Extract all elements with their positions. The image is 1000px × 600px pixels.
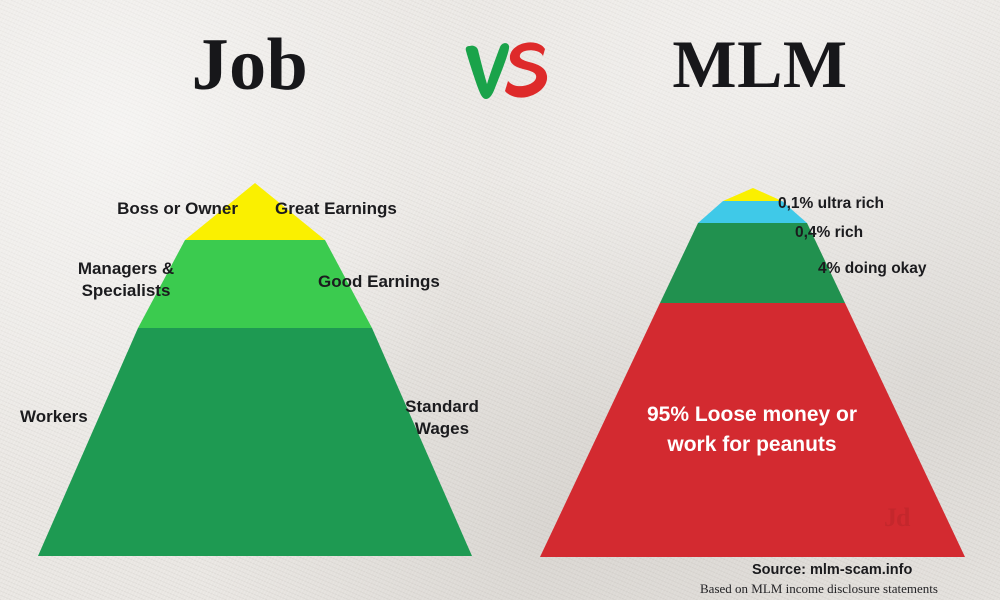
mlm-label-rich: 0,4% rich: [795, 223, 965, 243]
mlm-label-loose-money: 95% Loose money or work for peanuts: [602, 400, 902, 460]
source-block: Source: mlm-scam.info Based on MLM incom…: [700, 562, 990, 598]
source-primary-text: Source: mlm-scam.info: [752, 562, 990, 579]
job-label-managers-specialists: Managers & Specialists: [58, 258, 194, 303]
page-title-mlm: MLM: [520, 30, 1000, 98]
source-secondary-text: Based on MLM income disclosure statement…: [700, 581, 990, 597]
job-tier-workers: [38, 328, 472, 556]
job-label-workers: Workers: [20, 406, 132, 428]
mlm-tier-ultra-rich: [723, 188, 782, 201]
mlm-label-ultra-rich: 0,1% ultra rich: [778, 194, 968, 214]
job-label-great-earnings: Great Earnings: [275, 198, 445, 220]
infographic-canvas: Job MLM Boss or Owner Great Earnings Man…: [0, 0, 1000, 600]
job-label-boss-or-owner: Boss or Owner: [88, 198, 238, 220]
job-label-standard-wages: Standard Wages: [388, 396, 496, 441]
job-label-good-earnings: Good Earnings: [318, 271, 468, 293]
mlm-label-doing-okay: 4% doing okay: [818, 259, 993, 279]
page-title-job: Job: [0, 28, 500, 102]
job-pyramid-chart: [20, 170, 490, 570]
